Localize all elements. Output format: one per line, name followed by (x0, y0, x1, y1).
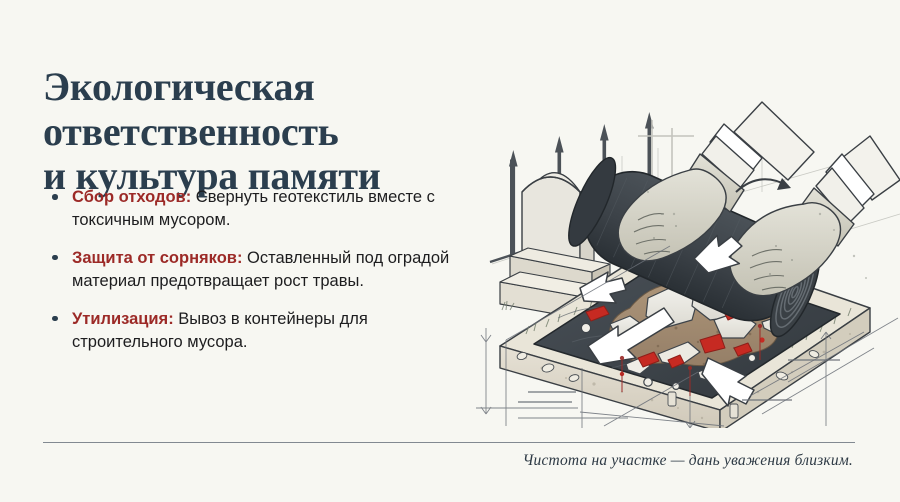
bullet-list: Сбор отходов: Свернуть геотекстиль вмест… (50, 186, 470, 355)
list-item: Защита от сорняков: Оставленный под огра… (50, 247, 470, 294)
list-item: Утилизация: Вывоз в контейнеры для строи… (50, 308, 470, 355)
footer-caption: Чистота на участке — дань уважения близк… (523, 452, 853, 470)
page-title: Экологическая ответственность и культура… (43, 65, 513, 199)
title-line-1: Экологическая ответственность (43, 64, 339, 154)
bullet-label: Защита от сорняков: (72, 249, 242, 267)
illustration-geotextile-removal (462, 96, 900, 428)
bullet-dot-icon (52, 194, 58, 200)
slide-root: Экологическая ответственность и культура… (0, 0, 900, 502)
bullet-label: Утилизация: (72, 310, 174, 328)
bullet-label: Сбор отходов: (72, 188, 191, 206)
list-item: Сбор отходов: Свернуть геотекстиль вмест… (50, 186, 470, 233)
footer-divider (43, 442, 855, 443)
bullet-dot-icon (52, 255, 58, 261)
bullet-dot-icon (52, 316, 58, 322)
